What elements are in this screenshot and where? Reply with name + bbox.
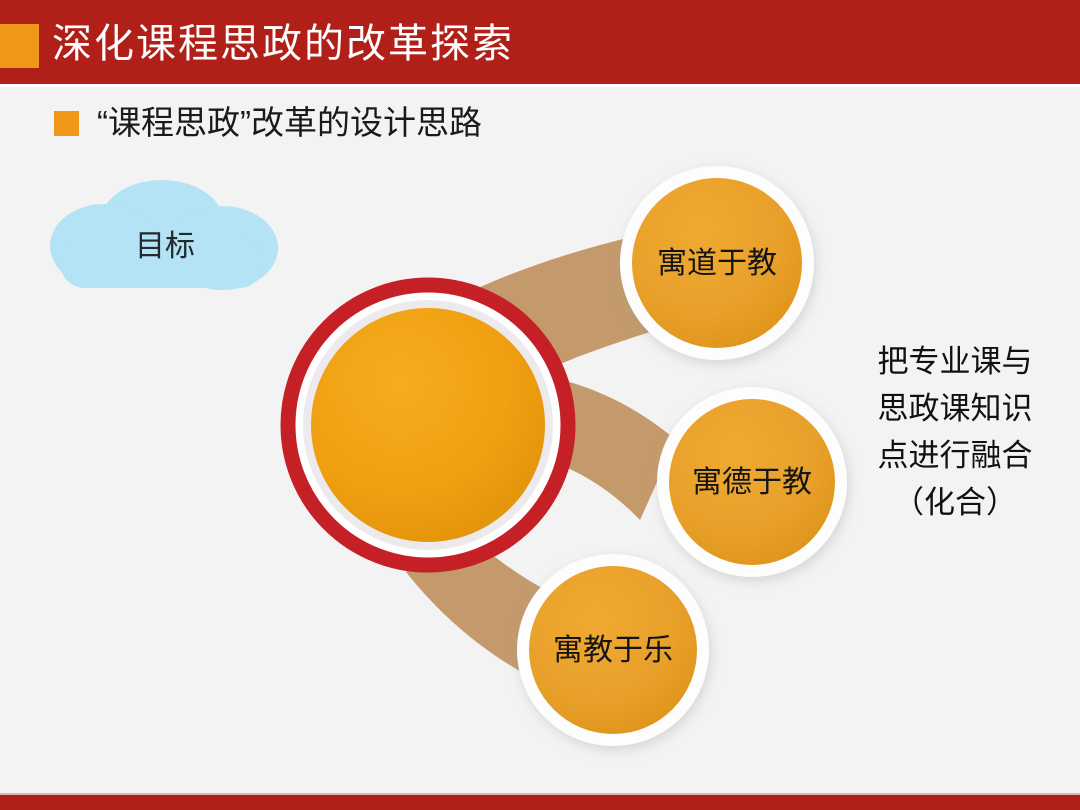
node-label-bottom: 寓教于乐 xyxy=(553,634,673,668)
connector-group xyxy=(406,230,690,690)
orange-square-bullet-icon xyxy=(54,111,79,136)
cloud-label: 目标 xyxy=(42,178,282,296)
connector-center-to-middle xyxy=(492,372,676,520)
header-divider xyxy=(0,84,1080,87)
subtitle-row: “课程思政”改革的设计思路 xyxy=(54,103,482,143)
page-title: 深化课程思政的改革探索 xyxy=(52,16,514,72)
header-bar: 深化课程思政的改革探索 xyxy=(0,0,1080,84)
node-label-middle: 寓德于教 xyxy=(692,466,812,500)
cloud-shape: 目标 xyxy=(42,178,282,296)
connector-center-to-top xyxy=(452,230,690,392)
orange-square-icon xyxy=(0,24,39,68)
subtitle-text: “课程思政”改革的设计思路 xyxy=(97,103,482,143)
side-note-line-1: 把专业课与 xyxy=(855,338,1055,385)
node-circle-center[interactable] xyxy=(281,278,575,572)
side-note: 把专业课与 思政课知识 点进行融合 （化合） xyxy=(855,338,1055,526)
side-note-line-4: （化合） xyxy=(855,479,1055,526)
side-note-line-3: 点进行融合 xyxy=(855,432,1055,479)
node-label-top: 寓道于教 xyxy=(657,247,777,281)
footer-bar xyxy=(0,795,1080,810)
side-note-line-2: 思政课知识 xyxy=(855,385,1055,432)
slide-canvas: 深化课程思政的改革探索 “课程思政”改革的设计思路 目标 xyxy=(0,0,1080,810)
